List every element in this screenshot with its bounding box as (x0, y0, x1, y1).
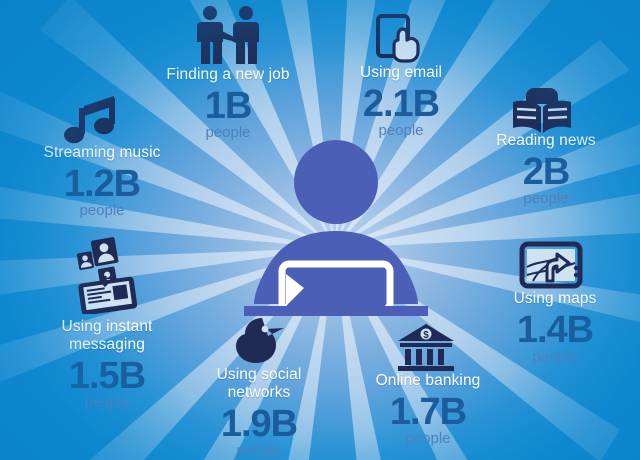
stat-label-line1: Using instant (36, 318, 178, 336)
stat-label-line2: messaging (36, 336, 178, 354)
stat-unit: people (356, 431, 500, 447)
open-book-icon (510, 86, 574, 136)
stat-unit: people (148, 125, 308, 141)
stat-streaming-music: Streaming music 1.2B people (22, 144, 182, 219)
stat-label-line1: Using social (192, 366, 326, 384)
stat-value: 2B (478, 152, 614, 192)
stat-value: 1.5B (36, 356, 178, 396)
stat-using-social-networks: Using social networks 1.9B people (192, 366, 326, 459)
tablet-touch-icon (372, 12, 428, 68)
stat-label-line2: networks (192, 384, 326, 402)
tablet-contacts-icon (68, 236, 146, 314)
stat-value: 2.1B (330, 84, 472, 124)
stat-using-instant-messaging: Using instant messaging 1.5B people (36, 318, 178, 411)
stat-value: 1.2B (22, 164, 182, 204)
bird-icon (232, 316, 286, 366)
navigation-map-icon (519, 241, 583, 293)
stat-unit: people (192, 443, 326, 459)
stat-unit: people (36, 395, 178, 411)
handshake-icon (188, 4, 268, 66)
stat-label: Online banking (356, 372, 500, 390)
stat-label: Finding a new job (148, 66, 308, 84)
person-at-laptop-icon (236, 136, 436, 326)
stat-label: Using maps (492, 290, 618, 308)
stat-using-maps: Using maps 1.4B people (492, 290, 618, 365)
stat-using-email: Using email 2.1B people (330, 64, 472, 139)
stat-label: Using email (330, 64, 472, 82)
music-note-icon (64, 92, 122, 146)
stat-finding-a-new-job: Finding a new job 1B people (148, 66, 308, 141)
stat-value: 1B (148, 86, 308, 126)
stat-value: 1.9B (192, 404, 326, 444)
stat-unit: people (330, 123, 472, 139)
svg-text:$: $ (423, 330, 429, 341)
stat-unit: people (492, 349, 618, 365)
bank-building-icon: $ (397, 322, 455, 374)
stat-value: 1.4B (492, 310, 618, 350)
stat-value: 1.7B (356, 392, 500, 432)
stat-unit: people (22, 203, 182, 219)
stat-unit: people (478, 191, 614, 207)
stat-label: Reading news (478, 132, 614, 150)
infographic-canvas: Finding a new job 1B people Using email … (0, 0, 640, 460)
stat-online-banking: Online banking 1.7B people (356, 372, 500, 447)
stat-label: Streaming music (22, 144, 182, 162)
stat-reading-news: Reading news 2B people (478, 132, 614, 207)
